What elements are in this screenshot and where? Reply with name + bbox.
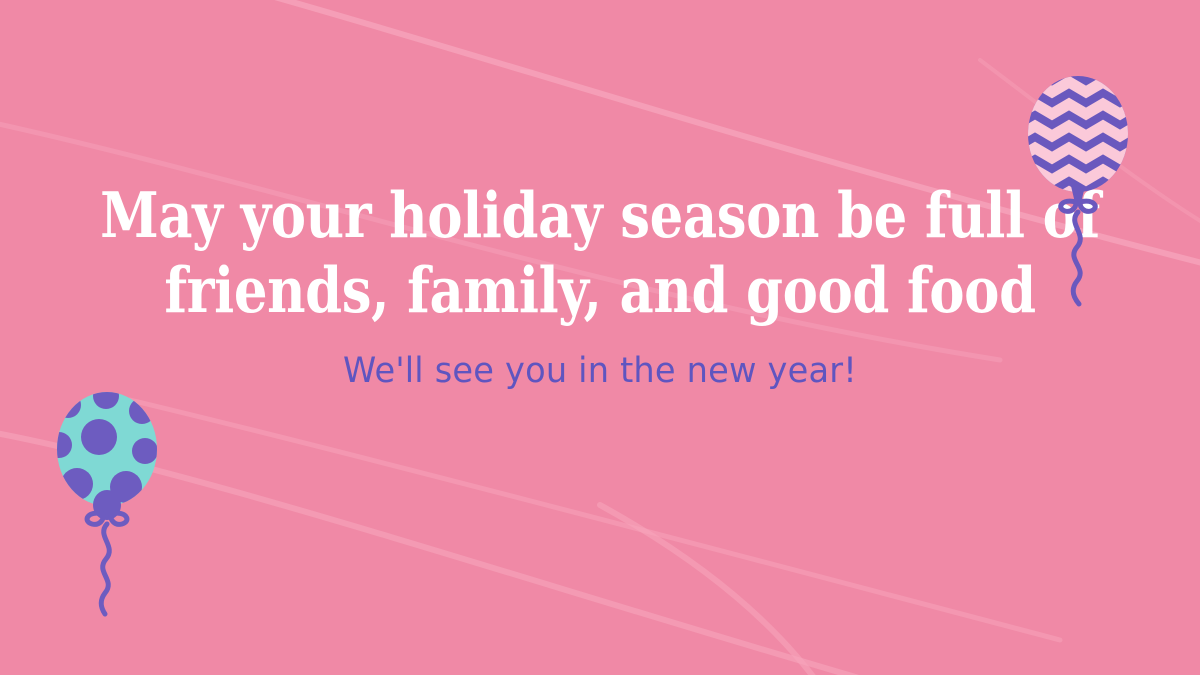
greeting-card: May your holiday season be full of frien… — [0, 0, 1200, 675]
chevron-balloon-string — [1073, 212, 1080, 304]
polka-dot-balloon-graphic — [44, 384, 184, 619]
headline: May your holiday season be full of frien… — [96, 178, 1104, 328]
chevron-balloon-graphic — [1008, 62, 1148, 307]
polka-dot-balloon-string — [101, 524, 109, 614]
chevron-balloon — [1008, 62, 1148, 307]
subtitle: We'll see you in the new year! — [24, 328, 1176, 392]
chevron-pattern — [1018, 60, 1137, 202]
polka-dot-balloon — [44, 384, 184, 619]
